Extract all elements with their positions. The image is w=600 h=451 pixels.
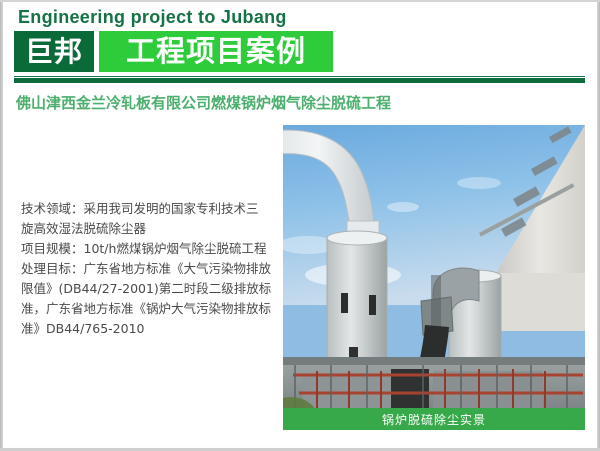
project-description-line: 限值》(DB44/27-2001)第二时段二级排放标 xyxy=(21,279,273,299)
photo-caption-bar: 锅炉脱硫除尘实景 xyxy=(283,408,585,430)
section-banner: 工程项目案例 xyxy=(99,31,333,72)
project-description-line: 准，广东省地方标准《锅炉大气污染物排放标 xyxy=(21,299,273,319)
project-subtitle: 佛山津西金兰冷轧板有限公司燃煤锅炉烟气除尘脱硫工程 xyxy=(16,92,391,113)
company-logo-box: 巨邦 xyxy=(14,31,94,72)
page-edge-left xyxy=(0,0,3,451)
project-photo xyxy=(283,125,585,430)
project-description-line: 旋高效湿法脱硫除尘器 xyxy=(21,219,273,239)
photo-caption-label: 锅炉脱硫除尘实景 xyxy=(382,411,486,428)
project-description-line: 项目规模：10t/h燃煤锅炉烟气除尘脱硫工程 xyxy=(21,239,273,259)
header-rule xyxy=(14,77,585,84)
project-description-line: 处理目标：广东省地方标准《大气污染物排放 xyxy=(21,259,273,279)
slide-page: Engineering project to Jubang 巨邦 工程项目案例 … xyxy=(0,0,600,451)
page-edge-top xyxy=(0,0,600,2)
company-logo-label: 巨邦 xyxy=(25,38,83,66)
project-description: 技术领域：采用我司发明的国家专利技术三 旋高效湿法脱硫除尘器 项目规模：10t/… xyxy=(21,199,273,339)
project-description-line: 准》DB44/765-2010 xyxy=(21,319,273,339)
english-title: Engineering project to Jubang xyxy=(18,7,287,28)
section-banner-label: 工程项目案例 xyxy=(126,37,306,66)
project-description-line: 技术领域：采用我司发明的国家专利技术三 xyxy=(21,199,273,219)
project-photo-image xyxy=(283,125,585,430)
